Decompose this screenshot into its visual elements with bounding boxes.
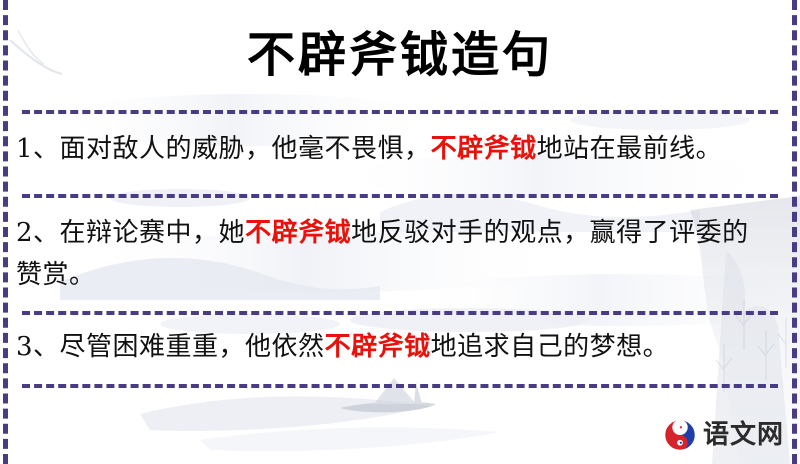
divider-4 (22, 384, 778, 388)
highlighted-idiom: 不辟斧钺 (245, 218, 351, 248)
divider-1 (22, 110, 778, 114)
example-sentence-3: 3、尽管困难重重，他依然不辟斧钺地追求自己的梦想。 (16, 326, 774, 368)
site-logo-text: 语文网 (703, 422, 784, 448)
sentence-text: 面对敌人的威胁，他毫不畏惧， (60, 134, 431, 164)
example-sentence-1: 1、面对敌人的威胁，他毫不畏惧，不辟斧钺地站在最前线。 (16, 128, 774, 170)
title-area: 不辟斧钺造句 (0, 16, 800, 94)
sentence-text: 地追求自己的梦想。 (431, 332, 670, 362)
page-title: 不辟斧钺造句 (247, 29, 553, 82)
left-dashed-border (3, 0, 8, 464)
site-logo[interactable]: 语文网 (663, 414, 784, 456)
right-dashed-border (792, 0, 797, 464)
example-sentence-2: 2、在辩论赛中，她不辟斧钺地反驳对手的观点，赢得了评委的赞赏。 (16, 212, 774, 296)
highlighted-idiom: 不辟斧钺 (325, 332, 431, 362)
sentence-number: 2、 (16, 218, 60, 248)
sentence-text: 地站在最前线。 (537, 134, 723, 164)
sentence-text: 尽管困难重重，他依然 (60, 332, 325, 362)
highlighted-idiom: 不辟斧钺 (431, 134, 537, 164)
sentence-number: 3、 (16, 332, 60, 362)
divider-3 (22, 311, 778, 315)
slide-canvas: 不辟斧钺造句 1、面对敌人的威胁，他毫不畏惧，不辟斧钺地站在最前线。 2、在辩论… (0, 0, 800, 464)
divider-2 (22, 194, 778, 198)
sentence-number: 1、 (16, 134, 60, 164)
sentence-text: 在辩论赛中，她 (60, 218, 246, 248)
yinyang-fish-logo-icon (663, 418, 697, 452)
